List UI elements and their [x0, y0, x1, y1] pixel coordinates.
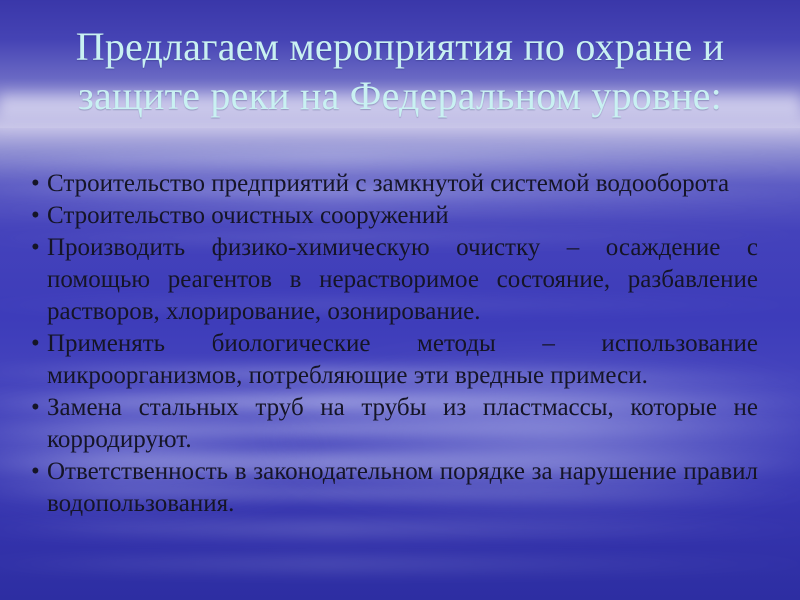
- list-item: Замена стальных труб на трубы из пластма…: [30, 392, 758, 456]
- slide-title-line-2: защите реки на Федеральном уровне:: [30, 71, 770, 120]
- slide-title: Предлагаем мероприятия по охране и защит…: [30, 22, 770, 120]
- list-item: Строительство очистных сооружений: [30, 200, 758, 232]
- slide-title-line-1: Предлагаем мероприятия по охране и: [30, 22, 770, 71]
- list-item: Производить физико-химическую очистку – …: [30, 232, 758, 328]
- list-item: Строительство предприятий с замкнутой си…: [30, 168, 758, 200]
- presentation-slide: Предлагаем мероприятия по охране и защит…: [0, 0, 800, 600]
- slide-bullet-list: Строительство предприятий с замкнутой си…: [30, 168, 758, 520]
- list-item: Ответственность в законодательном порядк…: [30, 456, 758, 520]
- list-item: Применять биологические методы – использ…: [30, 328, 758, 392]
